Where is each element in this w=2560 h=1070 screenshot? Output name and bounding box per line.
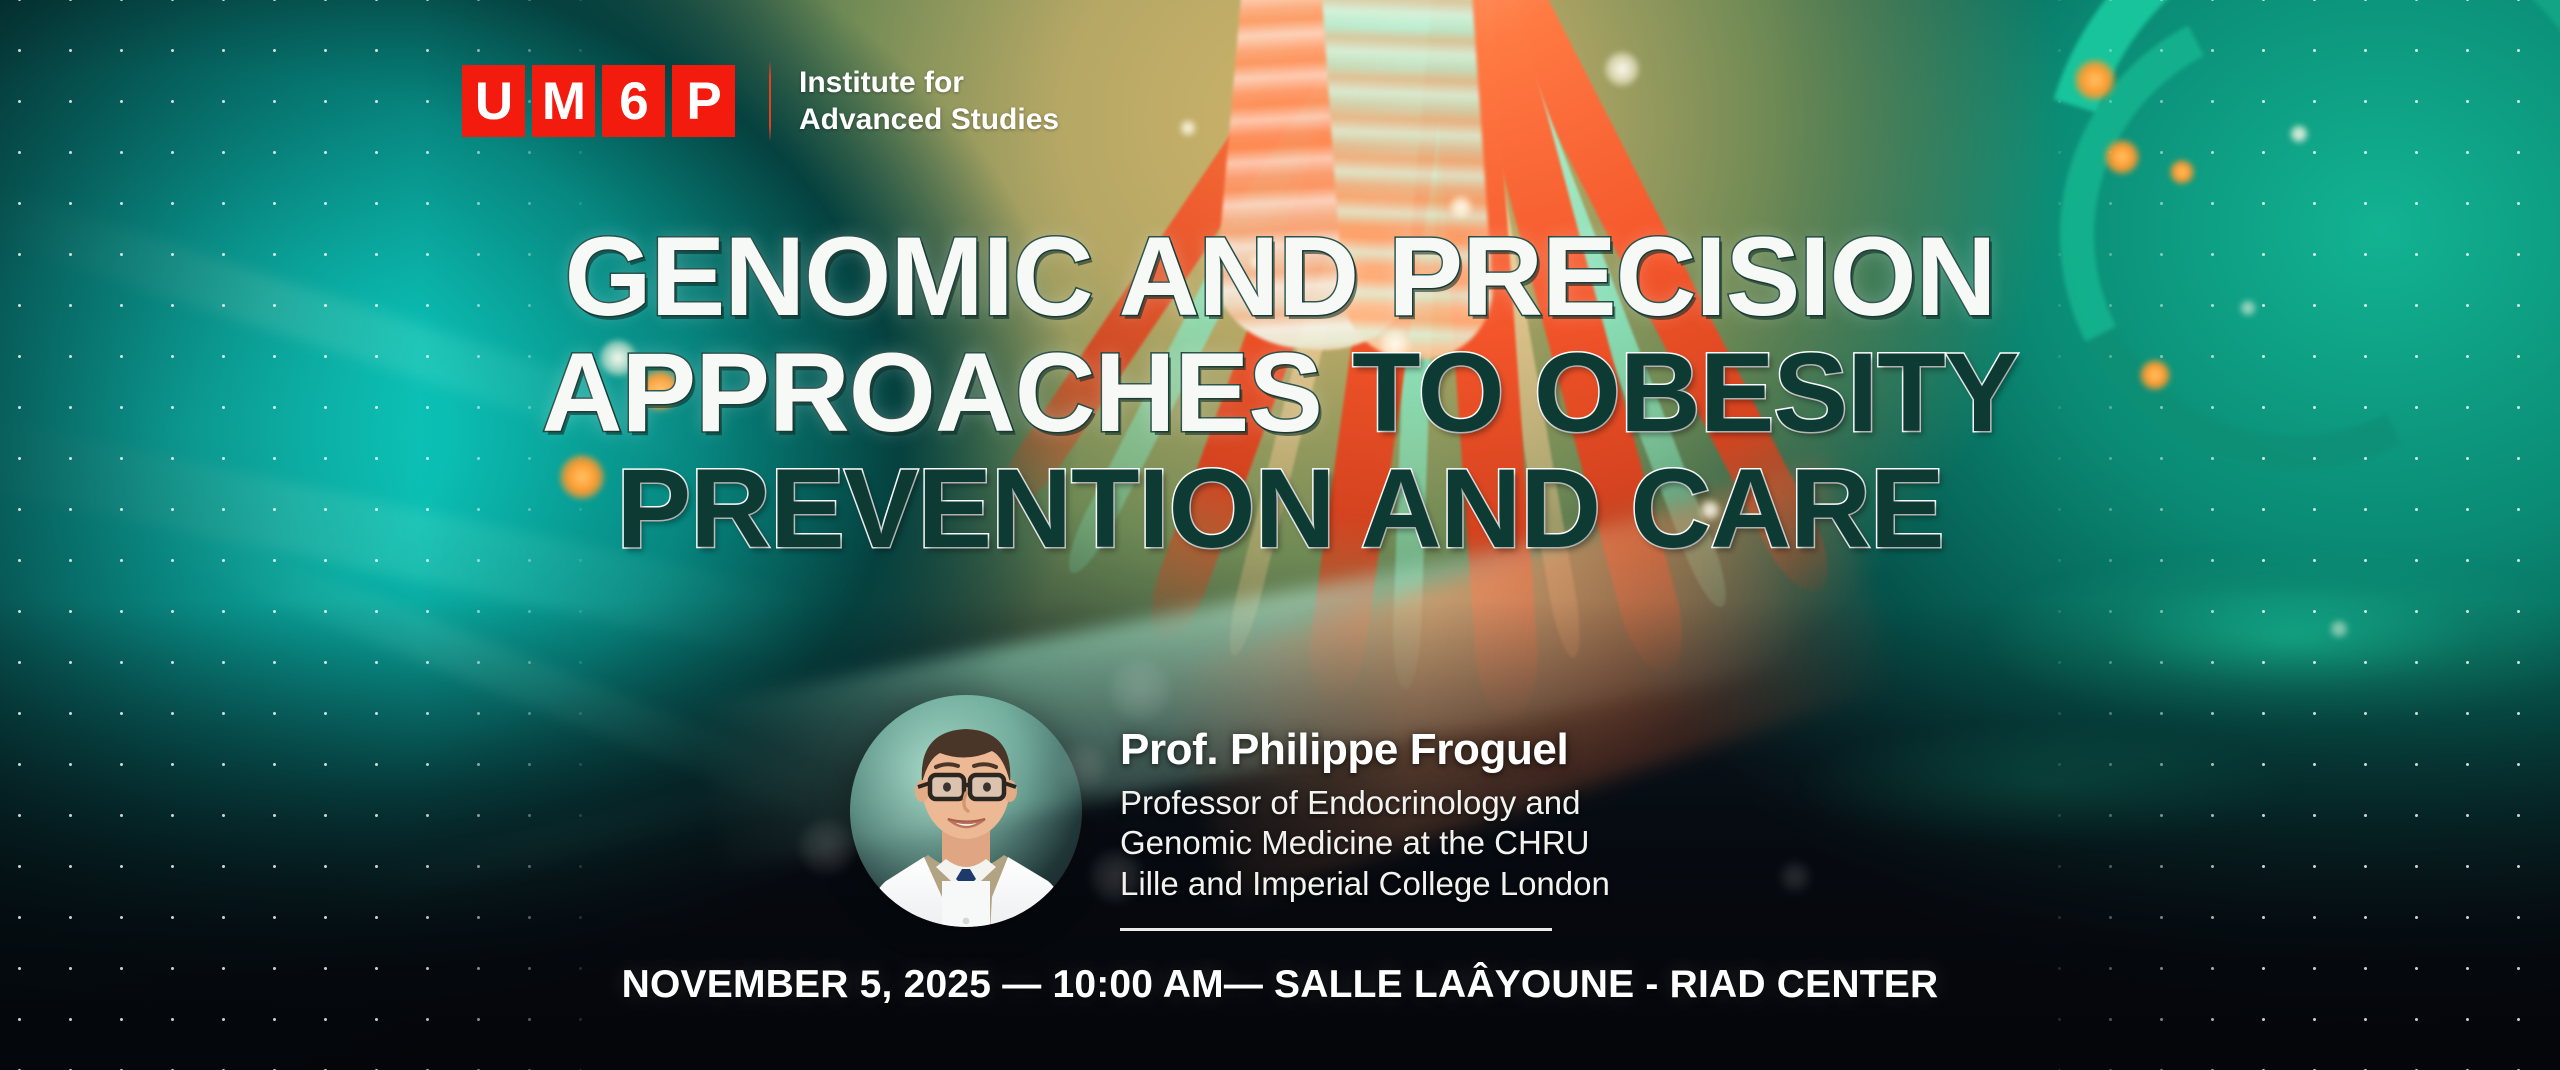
title-line-2-light-text: APPROACHES <box>542 330 1322 455</box>
logo-letter-m: M <box>532 65 595 137</box>
title-line-1: GENOMIC AND PRECISION <box>0 222 2560 332</box>
event-banner: U M 6 P Institute for Advanced Studies G… <box>0 0 2560 1070</box>
speaker-portrait-illustration <box>850 695 1082 927</box>
institute-line-1: Institute for <box>799 64 1059 101</box>
logo-letter-6: 6 <box>602 65 665 137</box>
speaker-role: Professor of Endocrinology and Genomic M… <box>1120 783 1740 904</box>
title-line-3: PREVENTION AND CARE <box>0 454 2560 564</box>
title-line-3-text: PREVENTION AND CARE <box>616 446 1943 571</box>
event-details: NOVEMBER 5, 2025 — 10:00 AM— SALLE LAÂYO… <box>0 963 2560 1007</box>
speaker-role-line-3: Lille and Imperial College London <box>1120 864 1740 904</box>
title-line-2: APPROACHES TO OBESITY <box>0 338 2560 448</box>
speaker-role-line-1: Professor of Endocrinology and <box>1120 783 1740 823</box>
speaker-name: Prof. Philippe Froguel <box>1120 725 1740 775</box>
event-title: GENOMIC AND PRECISION APPROACHES TO OBES… <box>0 222 2560 563</box>
institute-line-2: Advanced Studies <box>799 101 1059 138</box>
brand-lockup: U M 6 P Institute for Advanced Studies <box>462 62 1059 140</box>
logo-letter-u: U <box>462 65 525 137</box>
um6p-logo[interactable]: U M 6 P <box>462 65 735 137</box>
brand-divider <box>769 62 771 140</box>
speaker-underline <box>1120 928 1552 931</box>
institute-name: Institute for Advanced Studies <box>799 64 1059 138</box>
title-line-2-dark-text: TO OBESITY <box>1352 330 2018 455</box>
speaker-info: Prof. Philippe Froguel Professor of Endo… <box>1120 725 1740 931</box>
title-line-1-text: GENOMIC AND PRECISION <box>565 214 1996 339</box>
logo-letter-p: P <box>672 65 735 137</box>
speaker-role-line-2: Genomic Medicine at the CHRU <box>1120 823 1740 863</box>
speaker-photo <box>850 695 1082 927</box>
